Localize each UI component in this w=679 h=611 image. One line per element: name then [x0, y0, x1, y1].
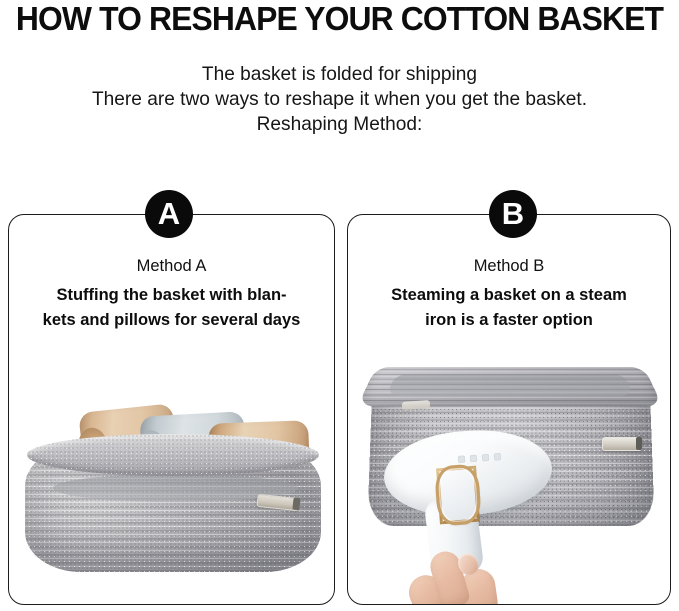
method-card-b: Method B Steaming a basket on a steam ir…	[347, 214, 671, 605]
method-b-description-line-2: iron is a faster option	[352, 308, 666, 333]
steamer-dot-3	[482, 454, 489, 461]
steamer-dot-2	[470, 455, 477, 462]
method-a-description: Stuffing the basket with blan- kets and …	[9, 283, 334, 333]
method-a-description-line-2: kets and pillows for several days	[13, 308, 330, 333]
method-b-description: Steaming a basket on a steam iron is a f…	[348, 283, 670, 333]
subtitle-line-1: The basket is folded for shipping	[7, 62, 672, 87]
method-a-description-line-1: Stuffing the basket with blan-	[13, 283, 330, 308]
steamer-dot-1	[458, 456, 465, 463]
method-badge-a: A	[145, 190, 193, 238]
method-b-label: Method B	[348, 257, 670, 276]
garment-steamer	[384, 431, 554, 601]
subtitle-line-2: There are two ways to reshape it when yo…	[7, 87, 672, 112]
basket-with-blankets-illustration	[25, 400, 321, 578]
basket-b-handle-right	[602, 437, 642, 451]
method-card-a: Method A Stuffing the basket with blan- …	[8, 214, 335, 605]
steamer-dot-4	[494, 453, 501, 460]
method-b-photo	[348, 349, 670, 604]
method-b-description-line-1: Steaming a basket on a steam	[352, 283, 666, 308]
method-a-label: Method A	[9, 257, 334, 276]
method-a-photo	[9, 364, 334, 604]
hand-holding-steamer	[410, 549, 528, 604]
steamer-power-button-gold-ring	[434, 464, 482, 527]
subtitle-line-3: Reshaping Method:	[7, 112, 672, 137]
subtitle-block: The basket is folded for shipping There …	[0, 62, 679, 137]
basket-b-rim	[357, 367, 662, 406]
page-title: HOW TO RESHAPE YOUR COTTON BASKET	[12, 0, 667, 38]
basket-a-rim	[27, 434, 319, 476]
method-badge-b: B	[489, 190, 537, 238]
